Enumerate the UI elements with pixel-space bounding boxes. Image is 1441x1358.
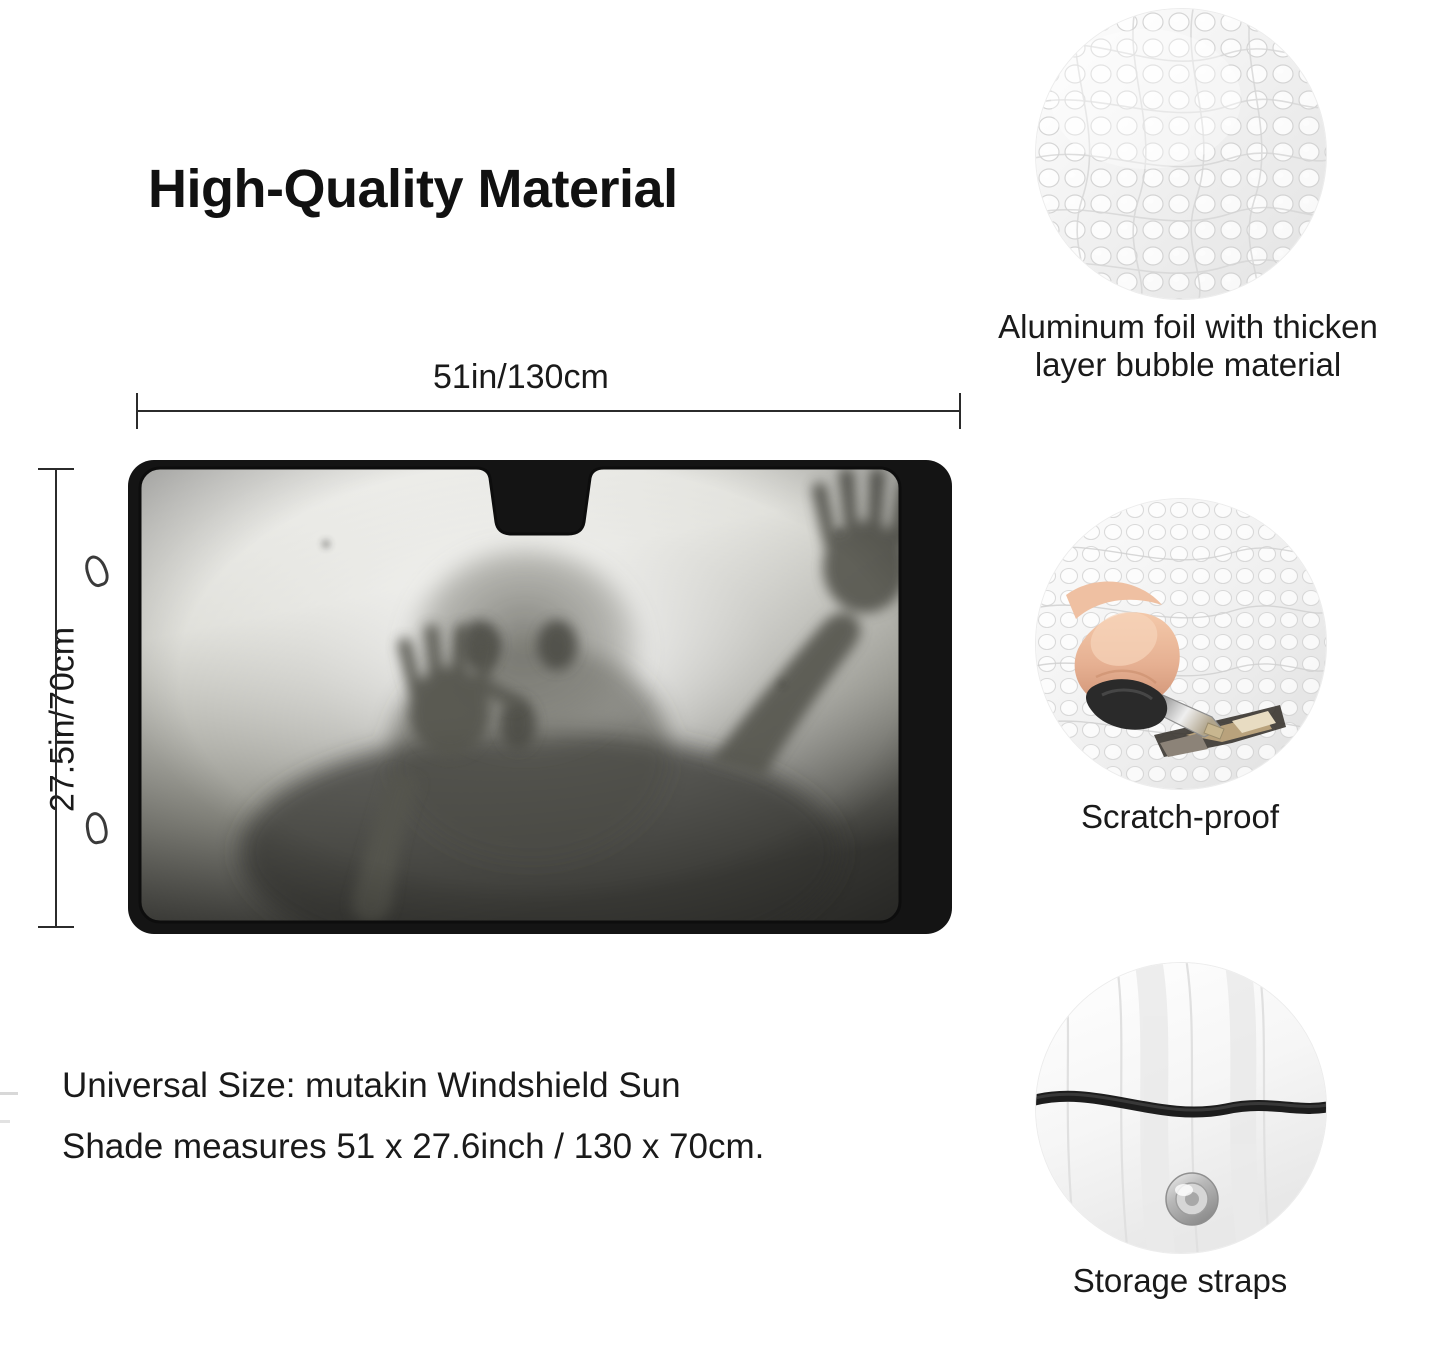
feature-storage-straps-label: Storage straps <box>975 1262 1385 1300</box>
width-dimension-line <box>136 410 961 412</box>
product-sunshade <box>120 452 960 942</box>
height-dimension-tick-bottom <box>38 926 74 928</box>
page-title: High-Quality Material <box>148 158 678 220</box>
height-dimension-line <box>55 468 57 928</box>
feature-aluminum-foil-label: Aluminum foil with thicken layer bubble … <box>973 308 1403 383</box>
feature-scratch-proof-label: Scratch-proof <box>975 798 1385 836</box>
size-caption-line-2: Shade measures 51 x 27.6inch / 130 x 70c… <box>62 1116 1042 1177</box>
feature-storage-straps: Storage straps <box>1035 962 1385 1300</box>
feature-storage-straps-image <box>1035 962 1327 1254</box>
shade-clip-top <box>81 552 112 589</box>
height-dimension-label: 27.5in/70cm <box>44 600 83 840</box>
size-caption: Universal Size: mutakin Windshield Sun S… <box>62 1055 1042 1178</box>
feature-aluminum-foil-label-line-2: layer bubble material <box>1035 346 1341 383</box>
width-dimension-label: 51in/130cm <box>433 358 609 397</box>
feature-aluminum-foil-image <box>1035 8 1327 300</box>
feature-scratch-proof: Scratch-proof <box>1035 498 1385 836</box>
width-dimension-tick-left <box>136 393 138 429</box>
feature-aluminum-foil: Aluminum foil with thicken layer bubble … <box>1035 8 1403 383</box>
scan-edge-mark-top <box>0 1092 18 1095</box>
width-dimension-tick-right <box>959 393 961 429</box>
size-caption-line-1: Universal Size: mutakin Windshield Sun <box>62 1055 1042 1116</box>
feature-aluminum-foil-label-line-1: Aluminum foil with thicken <box>998 308 1378 345</box>
height-dimension-tick-top <box>38 468 74 470</box>
shade-clip-bottom <box>83 810 109 845</box>
feature-scratch-proof-image <box>1035 498 1327 790</box>
scan-edge-mark-bottom <box>0 1120 10 1123</box>
